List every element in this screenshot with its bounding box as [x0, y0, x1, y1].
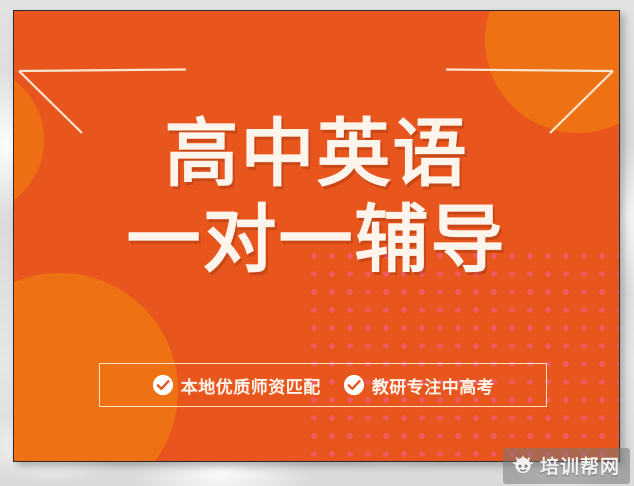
feature-badge: 本地优质师资匹配 — [152, 373, 321, 398]
promo-poster: 高中英语 一对一辅导 本地优质师资匹配 — [13, 10, 620, 462]
feature-badge-strip: 本地优质师资匹配 教研专注中高考 — [99, 363, 547, 407]
poster-headline: 高中英语 一对一辅导 — [14, 111, 619, 283]
site-watermark: 培训帮网 — [503, 448, 630, 484]
headline-line-2: 一对一辅导 — [14, 197, 619, 283]
check-circle-icon — [152, 374, 174, 396]
headline-line-1: 高中英语 — [14, 111, 619, 197]
feature-badge-label: 教研专注中高考 — [372, 373, 495, 398]
sun-smiley-icon — [512, 455, 534, 477]
watermark-label: 培训帮网 — [540, 452, 620, 479]
feature-badge-label: 本地优质师资匹配 — [181, 373, 321, 398]
check-circle-icon — [343, 374, 365, 396]
feature-badge: 教研专注中高考 — [343, 373, 495, 398]
poster-canvas: 高中英语 一对一辅导 本地优质师资匹配 — [0, 0, 634, 486]
